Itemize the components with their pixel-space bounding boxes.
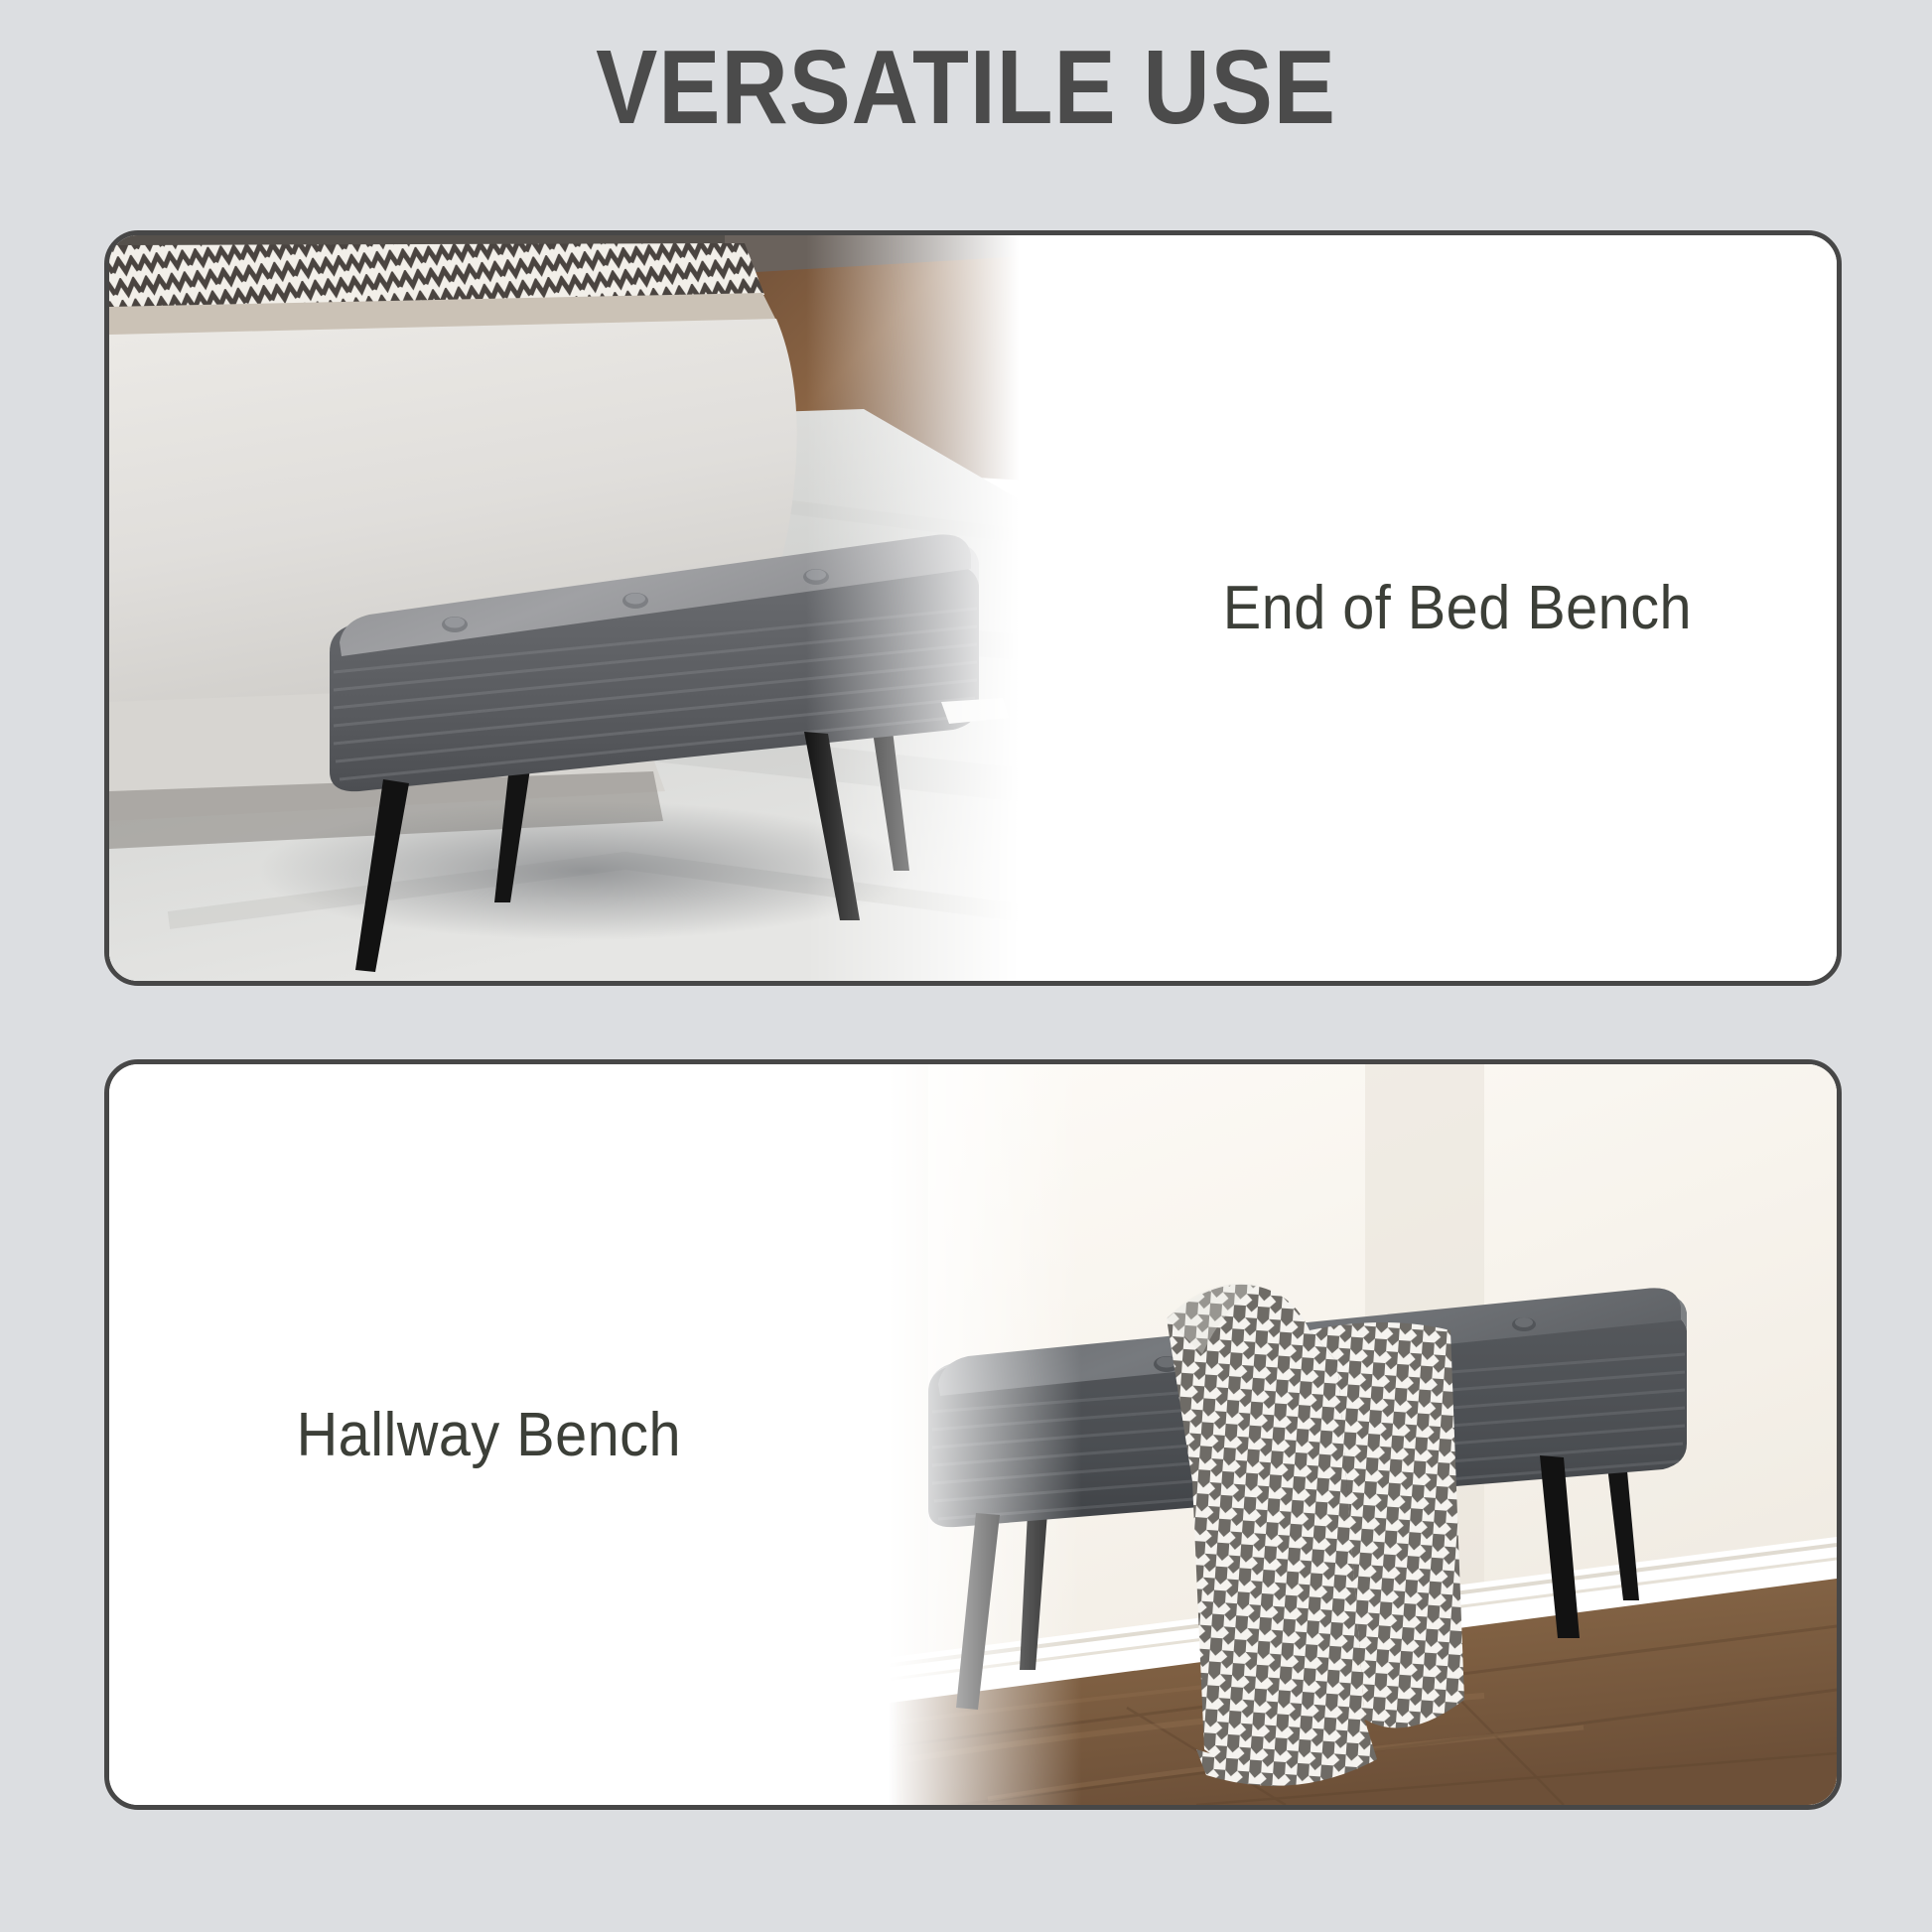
caption-hallway-bench: Hallway Bench [297,1400,681,1470]
card-end-of-bed-bench: End of Bed Bench [104,230,1842,986]
photo-bedroom-scene [109,235,1077,981]
photo-fade [109,235,1077,981]
infographic-page: VERSATILE USE [0,0,1932,1932]
caption-end-of-bed-bench: End of Bed Bench [1222,573,1691,643]
page-title: VERSATILE USE [116,28,1816,149]
bedroom-scene-illustration [109,235,1077,981]
card-hallway-bench: Hallway Bench [104,1059,1842,1810]
hallway-scene-illustration [869,1064,1837,1805]
caption-pane-hallway: Hallway Bench [109,1064,869,1805]
photo-hallway-scene [869,1064,1837,1805]
caption-pane-end-of-bed: End of Bed Bench [1077,235,1837,981]
photo-fade-left [869,1064,1837,1805]
